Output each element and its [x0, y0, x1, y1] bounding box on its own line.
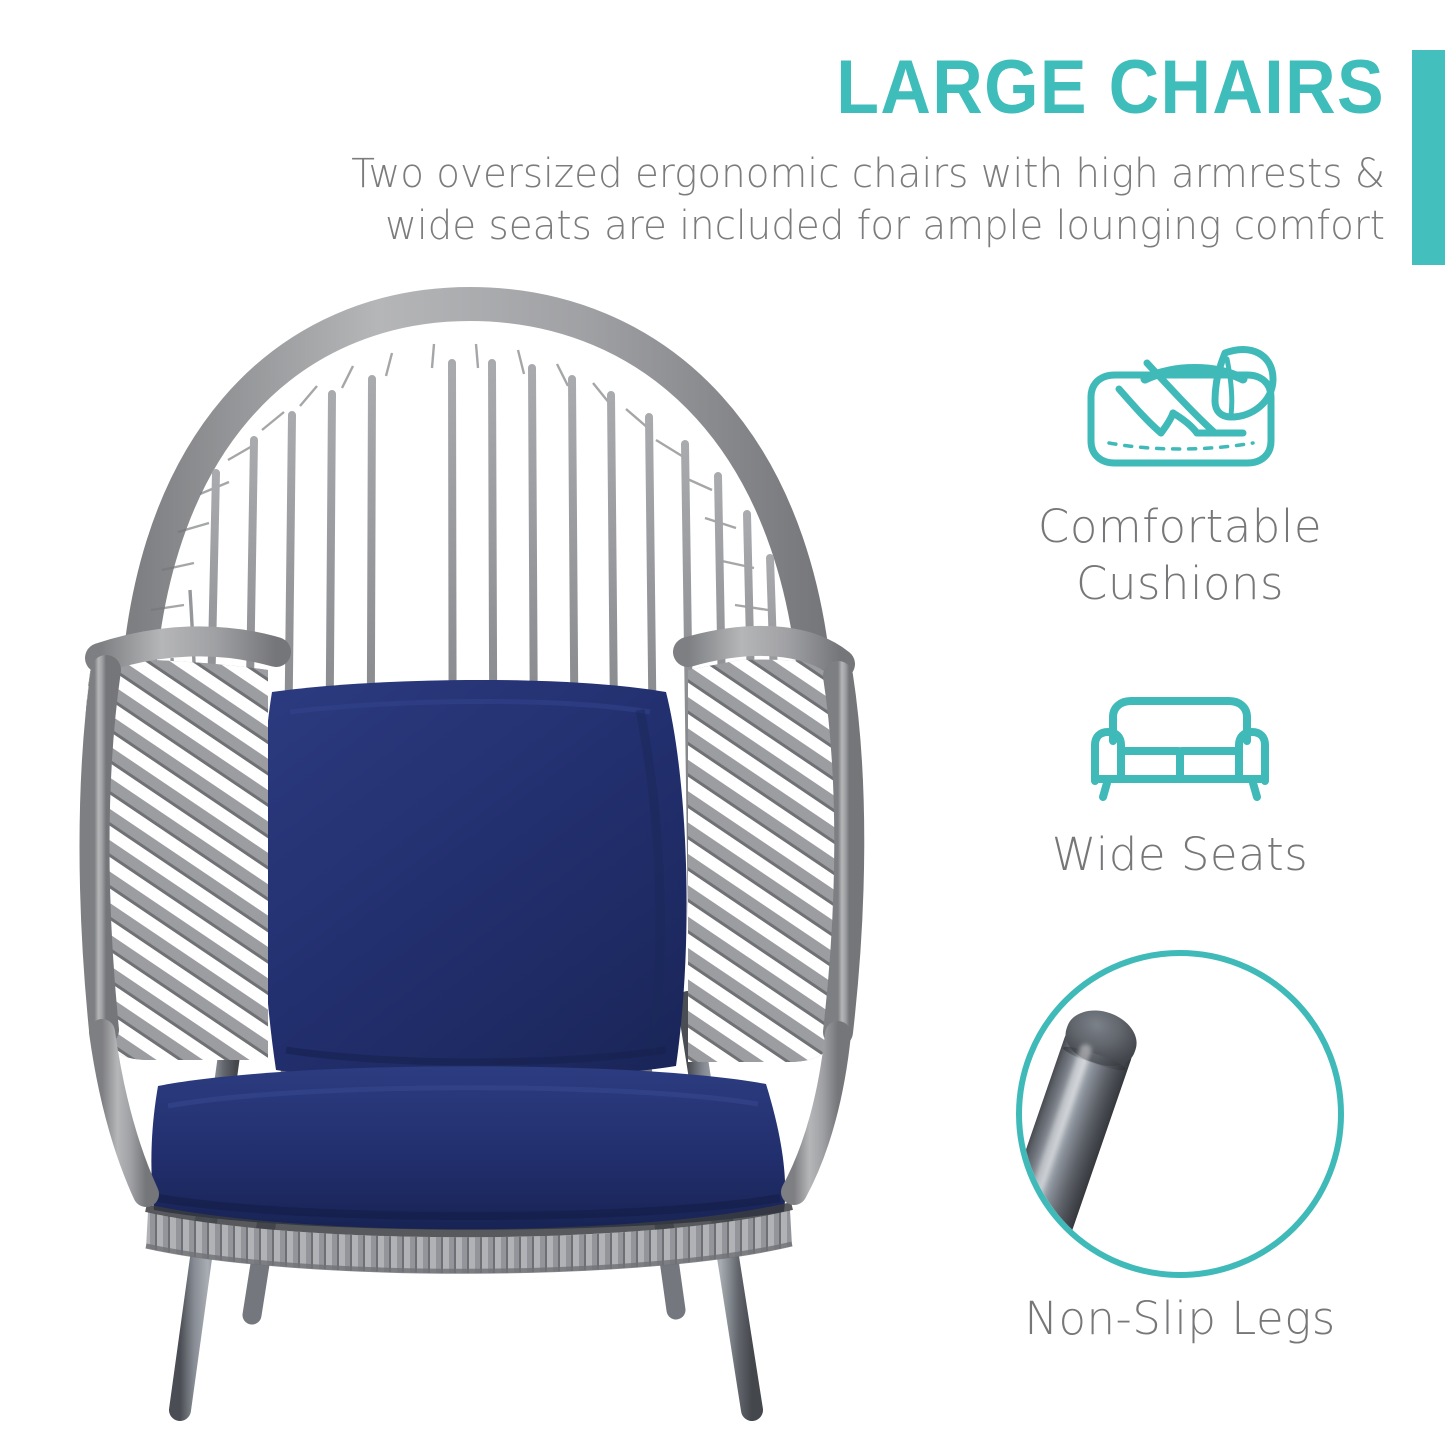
chair-armrest-right [660, 640, 890, 1080]
page-subtitle: Two oversized ergonomic chairs with high… [158, 148, 1385, 252]
feature-label-seats: Wide Seats [960, 826, 1400, 883]
back-cushion [261, 680, 686, 1081]
leg-shaft [1022, 1005, 1142, 1272]
feature-label-legs: Non-Slip Legs [960, 1290, 1400, 1347]
sofa-icon-wrap [960, 680, 1400, 810]
cushion-hand-feather-icon [1075, 335, 1285, 475]
leg-photo-inner [1022, 956, 1338, 1272]
seats-label-line-1: Wide Seats [1052, 828, 1308, 881]
product-feature-card: LARGE CHAIRS Two oversized ergonomic cha… [0, 0, 1445, 1445]
chair-armrest-left [70, 640, 300, 1080]
feature-non-slip-legs: Non-Slip Legs [960, 950, 1400, 1347]
page-title: LARGE CHAIRS [506, 48, 1385, 128]
product-image-chair [40, 260, 940, 1430]
feature-label-cushions: Comfortable Cushions [960, 498, 1400, 612]
feature-wide-seats: Wide Seats [960, 680, 1400, 883]
seat-cushion [151, 1066, 785, 1230]
leg-highlight [1022, 1043, 1093, 1272]
cushions-label-line-1: Comfortable [1038, 500, 1322, 553]
subtitle-line-1: Two oversized ergonomic chairs with high… [158, 148, 1385, 200]
subtitle-line-2: wide seats are included for ample loungi… [158, 200, 1385, 252]
chair-leg-closeup-photo [1016, 950, 1344, 1278]
legs-label-line-1: Non-Slip Legs [1024, 1292, 1335, 1345]
accent-bar [1412, 50, 1445, 265]
cushions-label-line-2: Cushions [1076, 557, 1284, 610]
feature-comfortable-cushions: Comfortable Cushions [960, 330, 1400, 612]
sofa-icon [1085, 685, 1275, 805]
cushion-icon-wrap [960, 330, 1400, 480]
